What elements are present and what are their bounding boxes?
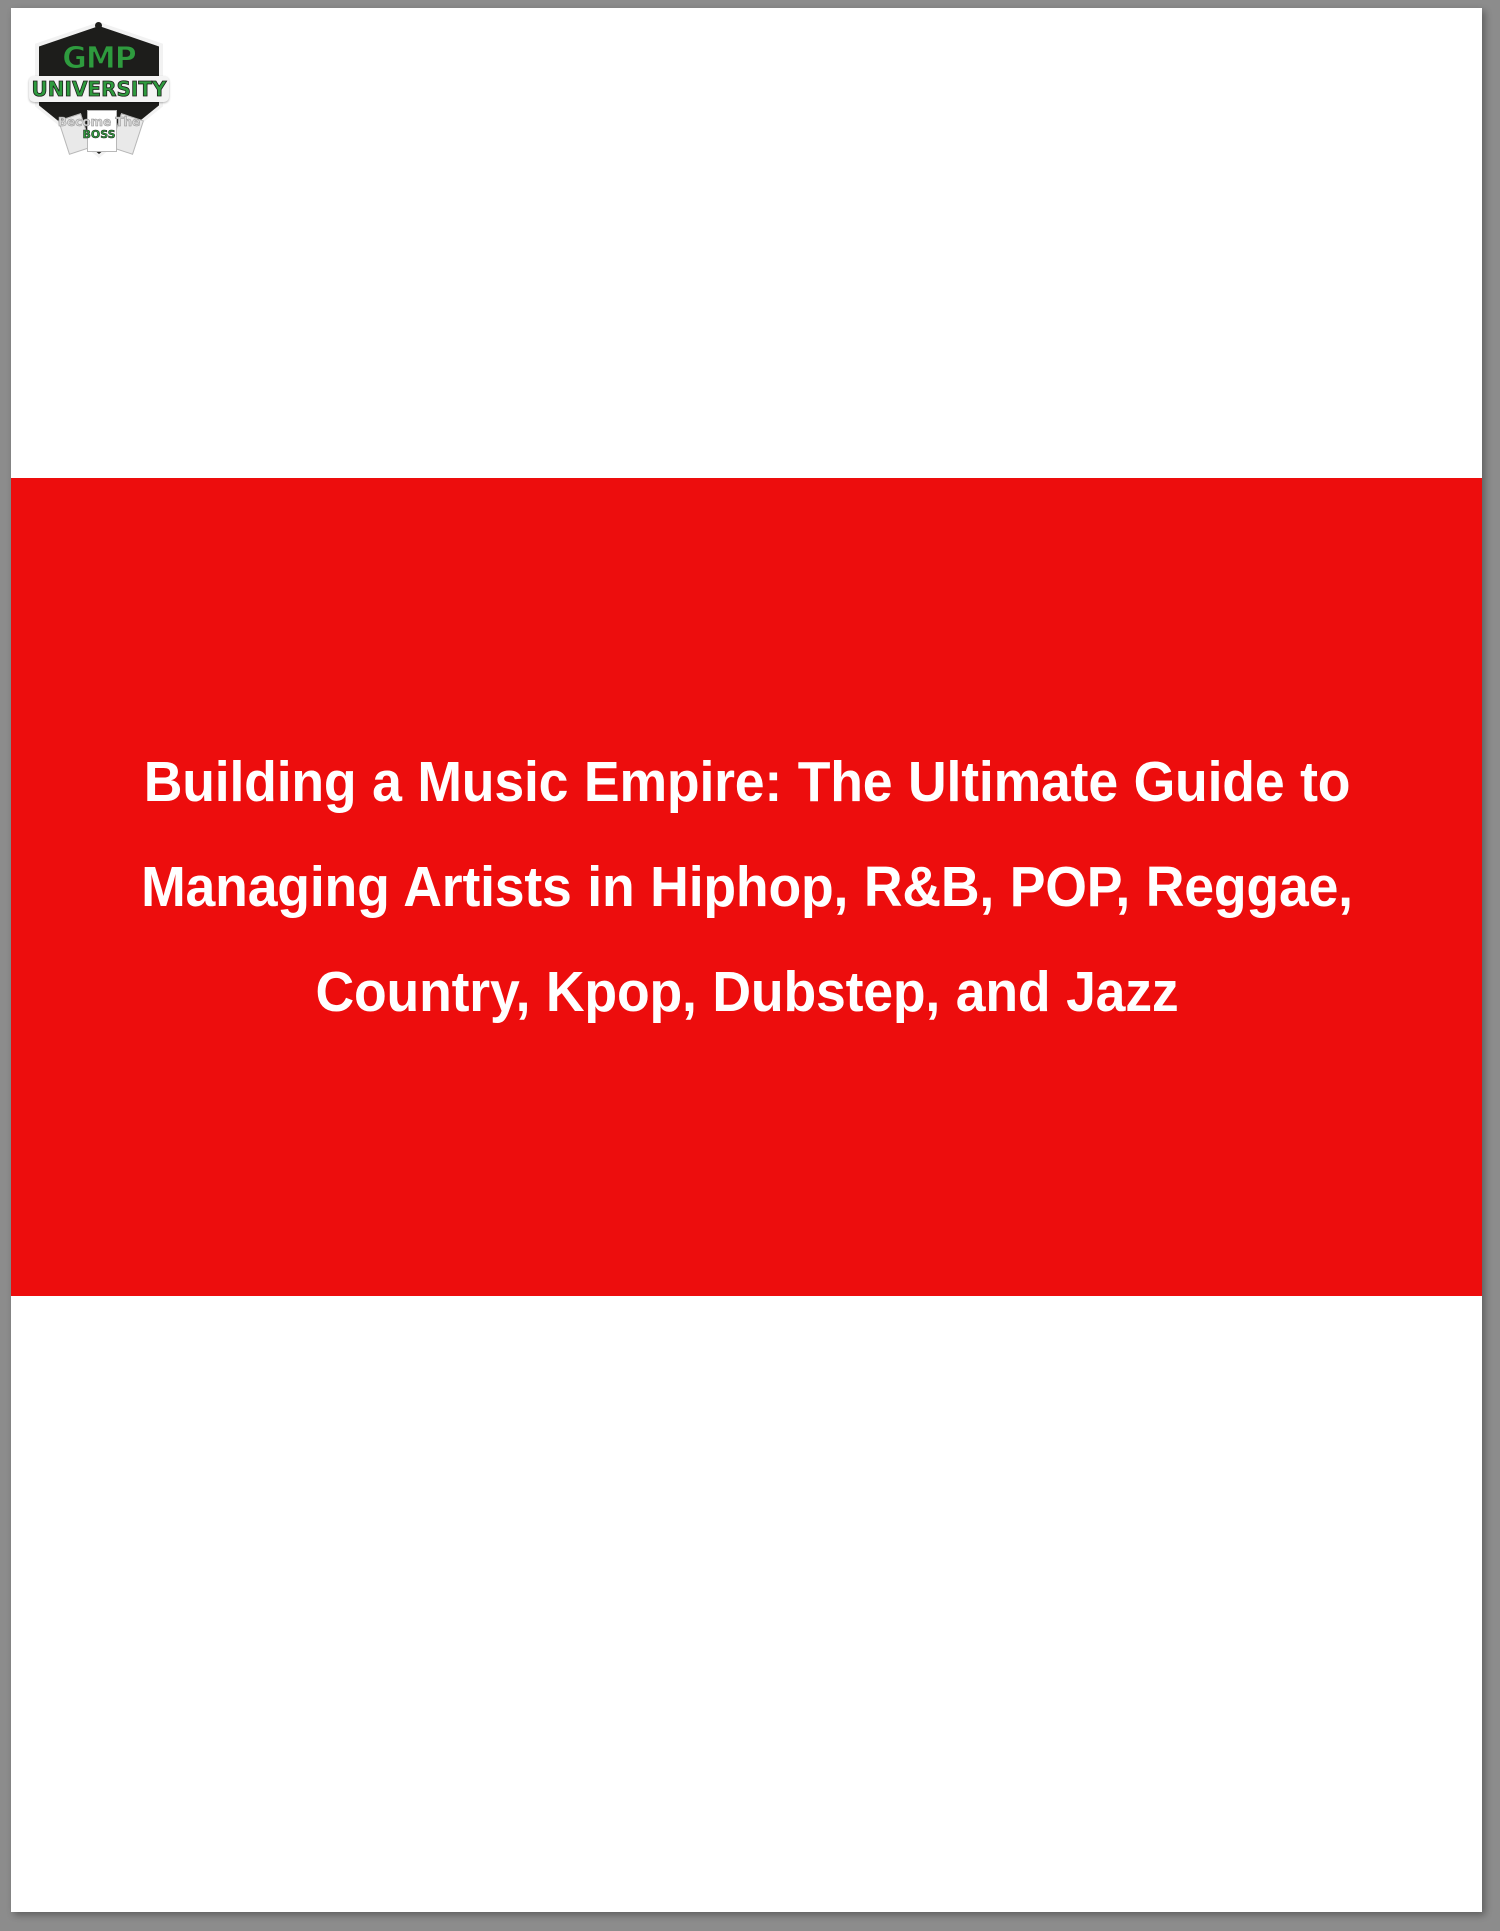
- logo-antenna-icon: [97, 26, 100, 42]
- document-page: GMP UNIVERSITY Become The BOSS Building …: [11, 8, 1482, 1912]
- cover-title-band: Building a Music Empire: The Ultimate Gu…: [11, 478, 1482, 1296]
- logo-brand-top: GMP: [29, 44, 169, 74]
- logo-tagline-line2: BOSS: [29, 129, 169, 141]
- page-title: Building a Music Empire: The Ultimate Gu…: [121, 730, 1371, 1045]
- gmp-university-logo[interactable]: GMP UNIVERSITY Become The BOSS: [29, 18, 169, 158]
- logo-brand-bottom: UNIVERSITY: [29, 78, 169, 100]
